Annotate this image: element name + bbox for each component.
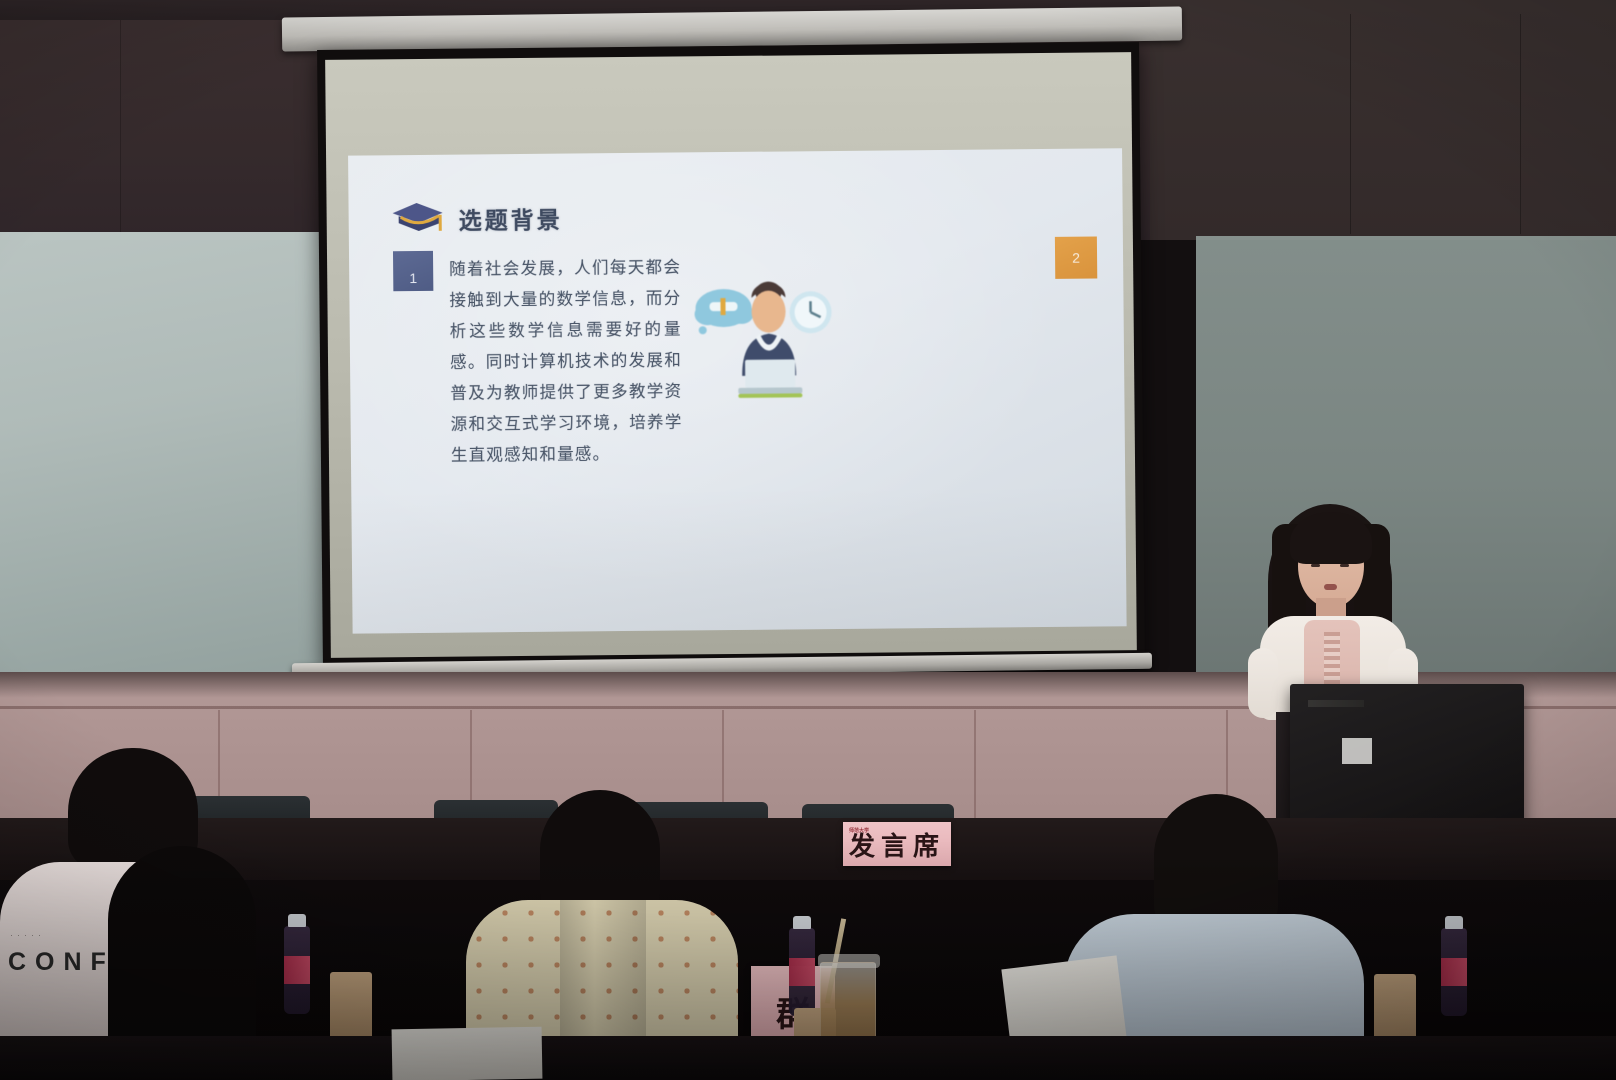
monitor-sticker [1342,738,1372,764]
water-bottle-right [1441,928,1467,1016]
name-card-speaker: 师范大学 发言席 [843,822,951,866]
presentation-slide: 选题背景 1 2 随着社会发展，人们每天都会接触到大量的数学信息，而分析这些数学… [348,148,1127,633]
projection-screen: 选题背景 1 2 随着社会发展，人们每天都会接触到大量的数学信息，而分析这些数学… [317,42,1145,670]
whiteboard-left [0,232,330,672]
monitor-brand-logo [1308,700,1364,707]
audience-shirt-subtext: ····· [10,930,45,940]
upper-wall-right [1150,0,1616,240]
lecture-hall-scene: 选题背景 1 2 随着社会发展，人们每天都会接触到大量的数学信息，而分析这些数学… [0,0,1616,1080]
paper-cup-left [330,972,372,1044]
podium-monitor [1290,684,1524,829]
water-bottle-center [789,928,815,1016]
name-card-seal: 师范大学 [849,827,869,834]
desk-papers-left [392,1027,543,1080]
foreground-desk-surface [0,1036,1616,1080]
water-bottle-left [284,926,310,1014]
audience-shirt-text: CONF [8,948,115,977]
screen-fabric: 选题背景 1 2 随着社会发展，人们每天都会接触到大量的数学信息，而分析这些数学… [325,52,1137,658]
